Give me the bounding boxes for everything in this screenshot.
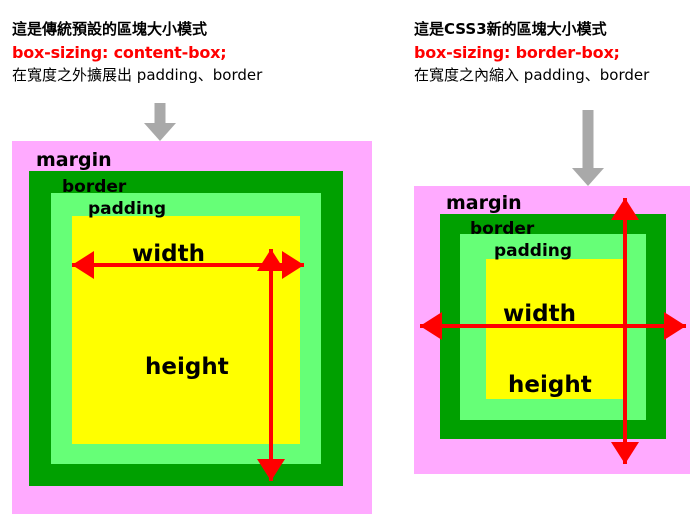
down-arrow-icon-right	[570, 110, 606, 186]
arrow-head-right	[282, 251, 304, 279]
caption-line-1: 這是傳統預設的區塊大小模式	[12, 18, 262, 41]
caption-line-3-tail: padding、border	[524, 66, 649, 84]
arrow-head-right	[664, 312, 686, 340]
height-dimension-arrow-content-box	[257, 249, 285, 481]
caption-code-line: box-sizing: border-box;	[414, 41, 649, 64]
diagram-canvas: 這是傳統預設的區塊大小模式 box-sizing: content-box; 在…	[0, 0, 700, 514]
caption-line-1: 這是CSS3新的區塊大小模式	[414, 18, 649, 41]
arrow-head-up	[611, 198, 639, 220]
caption-content-box: 這是傳統預設的區塊大小模式 box-sizing: content-box; 在…	[12, 18, 262, 87]
arrow-head-down	[257, 459, 285, 481]
margin-label: margin	[446, 192, 522, 214]
margin-area-content-box: margin border padding width height	[12, 141, 372, 514]
caption-code-line: box-sizing: content-box;	[12, 41, 262, 64]
arrow-line	[623, 198, 627, 464]
height-label: height	[508, 372, 592, 398]
arrow-head-up	[257, 249, 285, 271]
down-arrow-icon-left	[142, 103, 178, 141]
arrow-head-left	[420, 312, 442, 340]
arrow-shaft	[155, 103, 166, 124]
arrow-shaft	[583, 110, 594, 169]
padding-label: padding	[88, 199, 166, 219]
caption-line-3-tail: padding、border	[137, 66, 262, 84]
arrow-line	[269, 249, 273, 481]
width-label: width	[132, 241, 205, 267]
height-label: height	[145, 354, 229, 380]
arrow-head	[144, 123, 176, 141]
border-label: border	[62, 177, 126, 197]
width-label: width	[503, 301, 576, 327]
arrow-head-left	[72, 251, 94, 279]
caption-line-3: 在寬度之外擴展出 padding、border	[12, 64, 262, 87]
caption-line-3: 在寬度之內縮入 padding、border	[414, 64, 649, 87]
arrow-head	[572, 168, 604, 186]
caption-line-3-bold: 在寬度之內縮入	[414, 66, 519, 84]
margin-label: margin	[36, 149, 112, 171]
margin-area-border-box: margin border padding width height	[414, 186, 690, 474]
padding-label: padding	[494, 241, 572, 261]
caption-border-box: 這是CSS3新的區塊大小模式 box-sizing: border-box; 在…	[414, 18, 649, 87]
height-dimension-arrow-border-box	[611, 198, 639, 464]
arrow-head-down	[611, 442, 639, 464]
border-label: border	[470, 219, 534, 239]
caption-line-3-bold: 在寬度之外擴展出	[12, 66, 132, 84]
border-area-content-box	[29, 171, 343, 486]
